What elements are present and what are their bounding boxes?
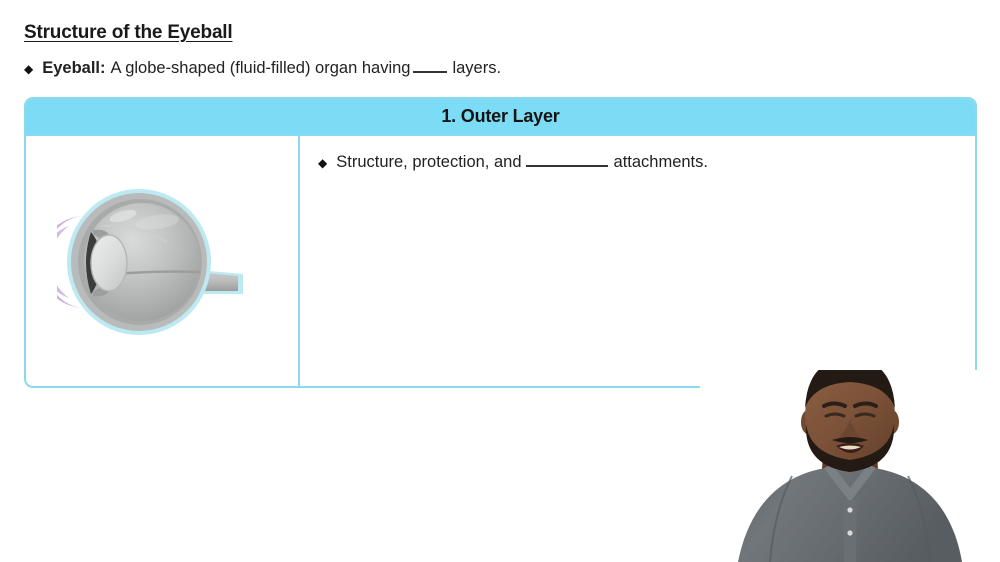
table-cell-text: ◆ Structure, protection, and attachments… [300, 136, 975, 386]
diamond-bullet-icon: ◆ [318, 157, 327, 169]
diamond-bullet-icon: ◆ [24, 63, 33, 75]
fill-in-blank-attachments [526, 152, 608, 167]
outer-layer-text-after: attachments. [614, 153, 708, 172]
shirt-button-bottom [847, 530, 852, 535]
outer-layer-table: 1. Outer Layer [24, 97, 977, 388]
shirt-button-top [847, 507, 852, 512]
outer-layer-function-bullet: ◆ Structure, protection, and attachments… [318, 152, 957, 172]
table-cell-image [26, 136, 300, 386]
eyeball-term-label: Eyeball: [42, 59, 105, 78]
table-header-title: 1. Outer Layer [441, 106, 559, 127]
eyeball-definition-text-after: layers. [452, 59, 501, 78]
lens [91, 235, 127, 291]
table-body: ◆ Structure, protection, and attachments… [26, 136, 975, 386]
outer-layer-text-before: Structure, protection, and [336, 153, 521, 172]
instructor-video-overlay [700, 370, 1000, 562]
table-header-bar: 1. Outer Layer [26, 99, 975, 136]
eyeball-definition-bullet: ◆ Eyeball: A globe-shaped (fluid-filled)… [24, 58, 501, 78]
presenter-figure [700, 370, 1000, 562]
eyeball-definition-text-before: A globe-shaped (fluid-filled) organ havi… [111, 59, 411, 78]
fill-in-blank-layers [413, 58, 447, 73]
eyeball-cross-section-diagram [57, 182, 272, 342]
page-title: Structure of the Eyeball [24, 22, 232, 44]
